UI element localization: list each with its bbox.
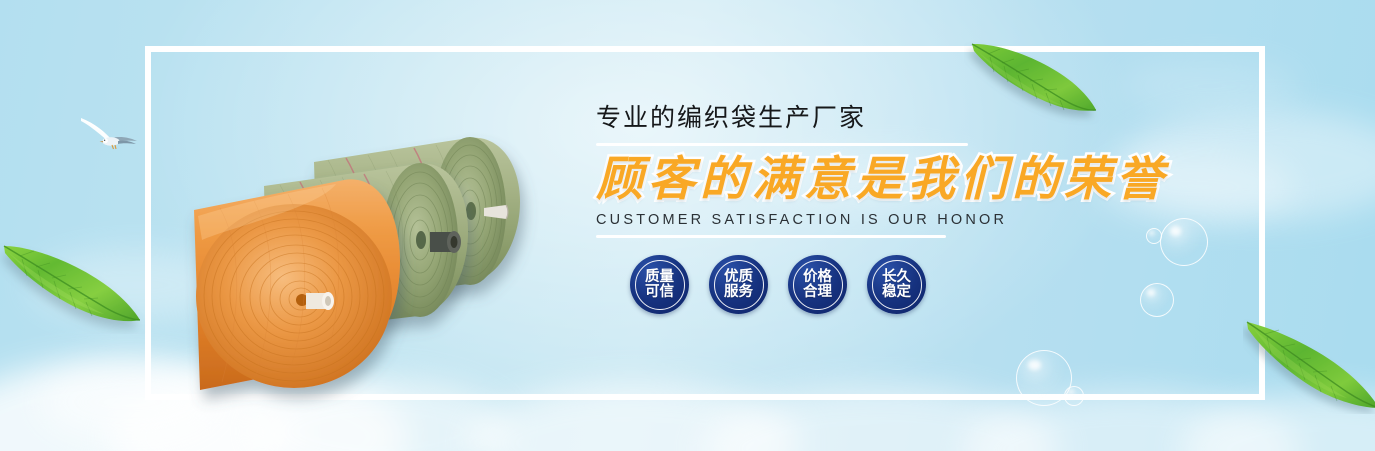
divider-bottom bbox=[596, 235, 946, 238]
feature-badge-list: 质量 可信 优质 服务 价格 合理 长久 稳定 bbox=[630, 255, 926, 314]
feature-badge[interactable]: 优质 服务 bbox=[709, 255, 768, 314]
badge-label: 质量 可信 bbox=[645, 270, 674, 300]
badge-label: 价格 合理 bbox=[803, 270, 832, 300]
promo-banner: 专业的编织袋生产厂家 顾客的满意是我们的荣誉 CUSTOMER SATISFAC… bbox=[0, 0, 1375, 451]
page-title-english: CUSTOMER SATISFACTION IS OUR HONOR bbox=[596, 212, 1196, 228]
product-image-woven-rolls bbox=[168, 128, 588, 420]
feature-badge[interactable]: 长久 稳定 bbox=[867, 255, 926, 314]
copy-block: 专业的编织袋生产厂家 顾客的满意是我们的荣誉 CUSTOMER SATISFAC… bbox=[596, 106, 1196, 238]
badge-label: 长久 稳定 bbox=[882, 270, 911, 300]
page-subtitle: 专业的编织袋生产厂家 bbox=[596, 106, 1196, 131]
feature-badge[interactable]: 质量 可信 bbox=[630, 255, 689, 314]
badge-label: 优质 服务 bbox=[724, 270, 753, 300]
page-title: 顾客的满意是我们的荣誉 bbox=[596, 155, 1196, 206]
seagull-icon bbox=[78, 112, 140, 154]
feature-badge[interactable]: 价格 合理 bbox=[788, 255, 847, 314]
divider-top bbox=[596, 143, 968, 146]
